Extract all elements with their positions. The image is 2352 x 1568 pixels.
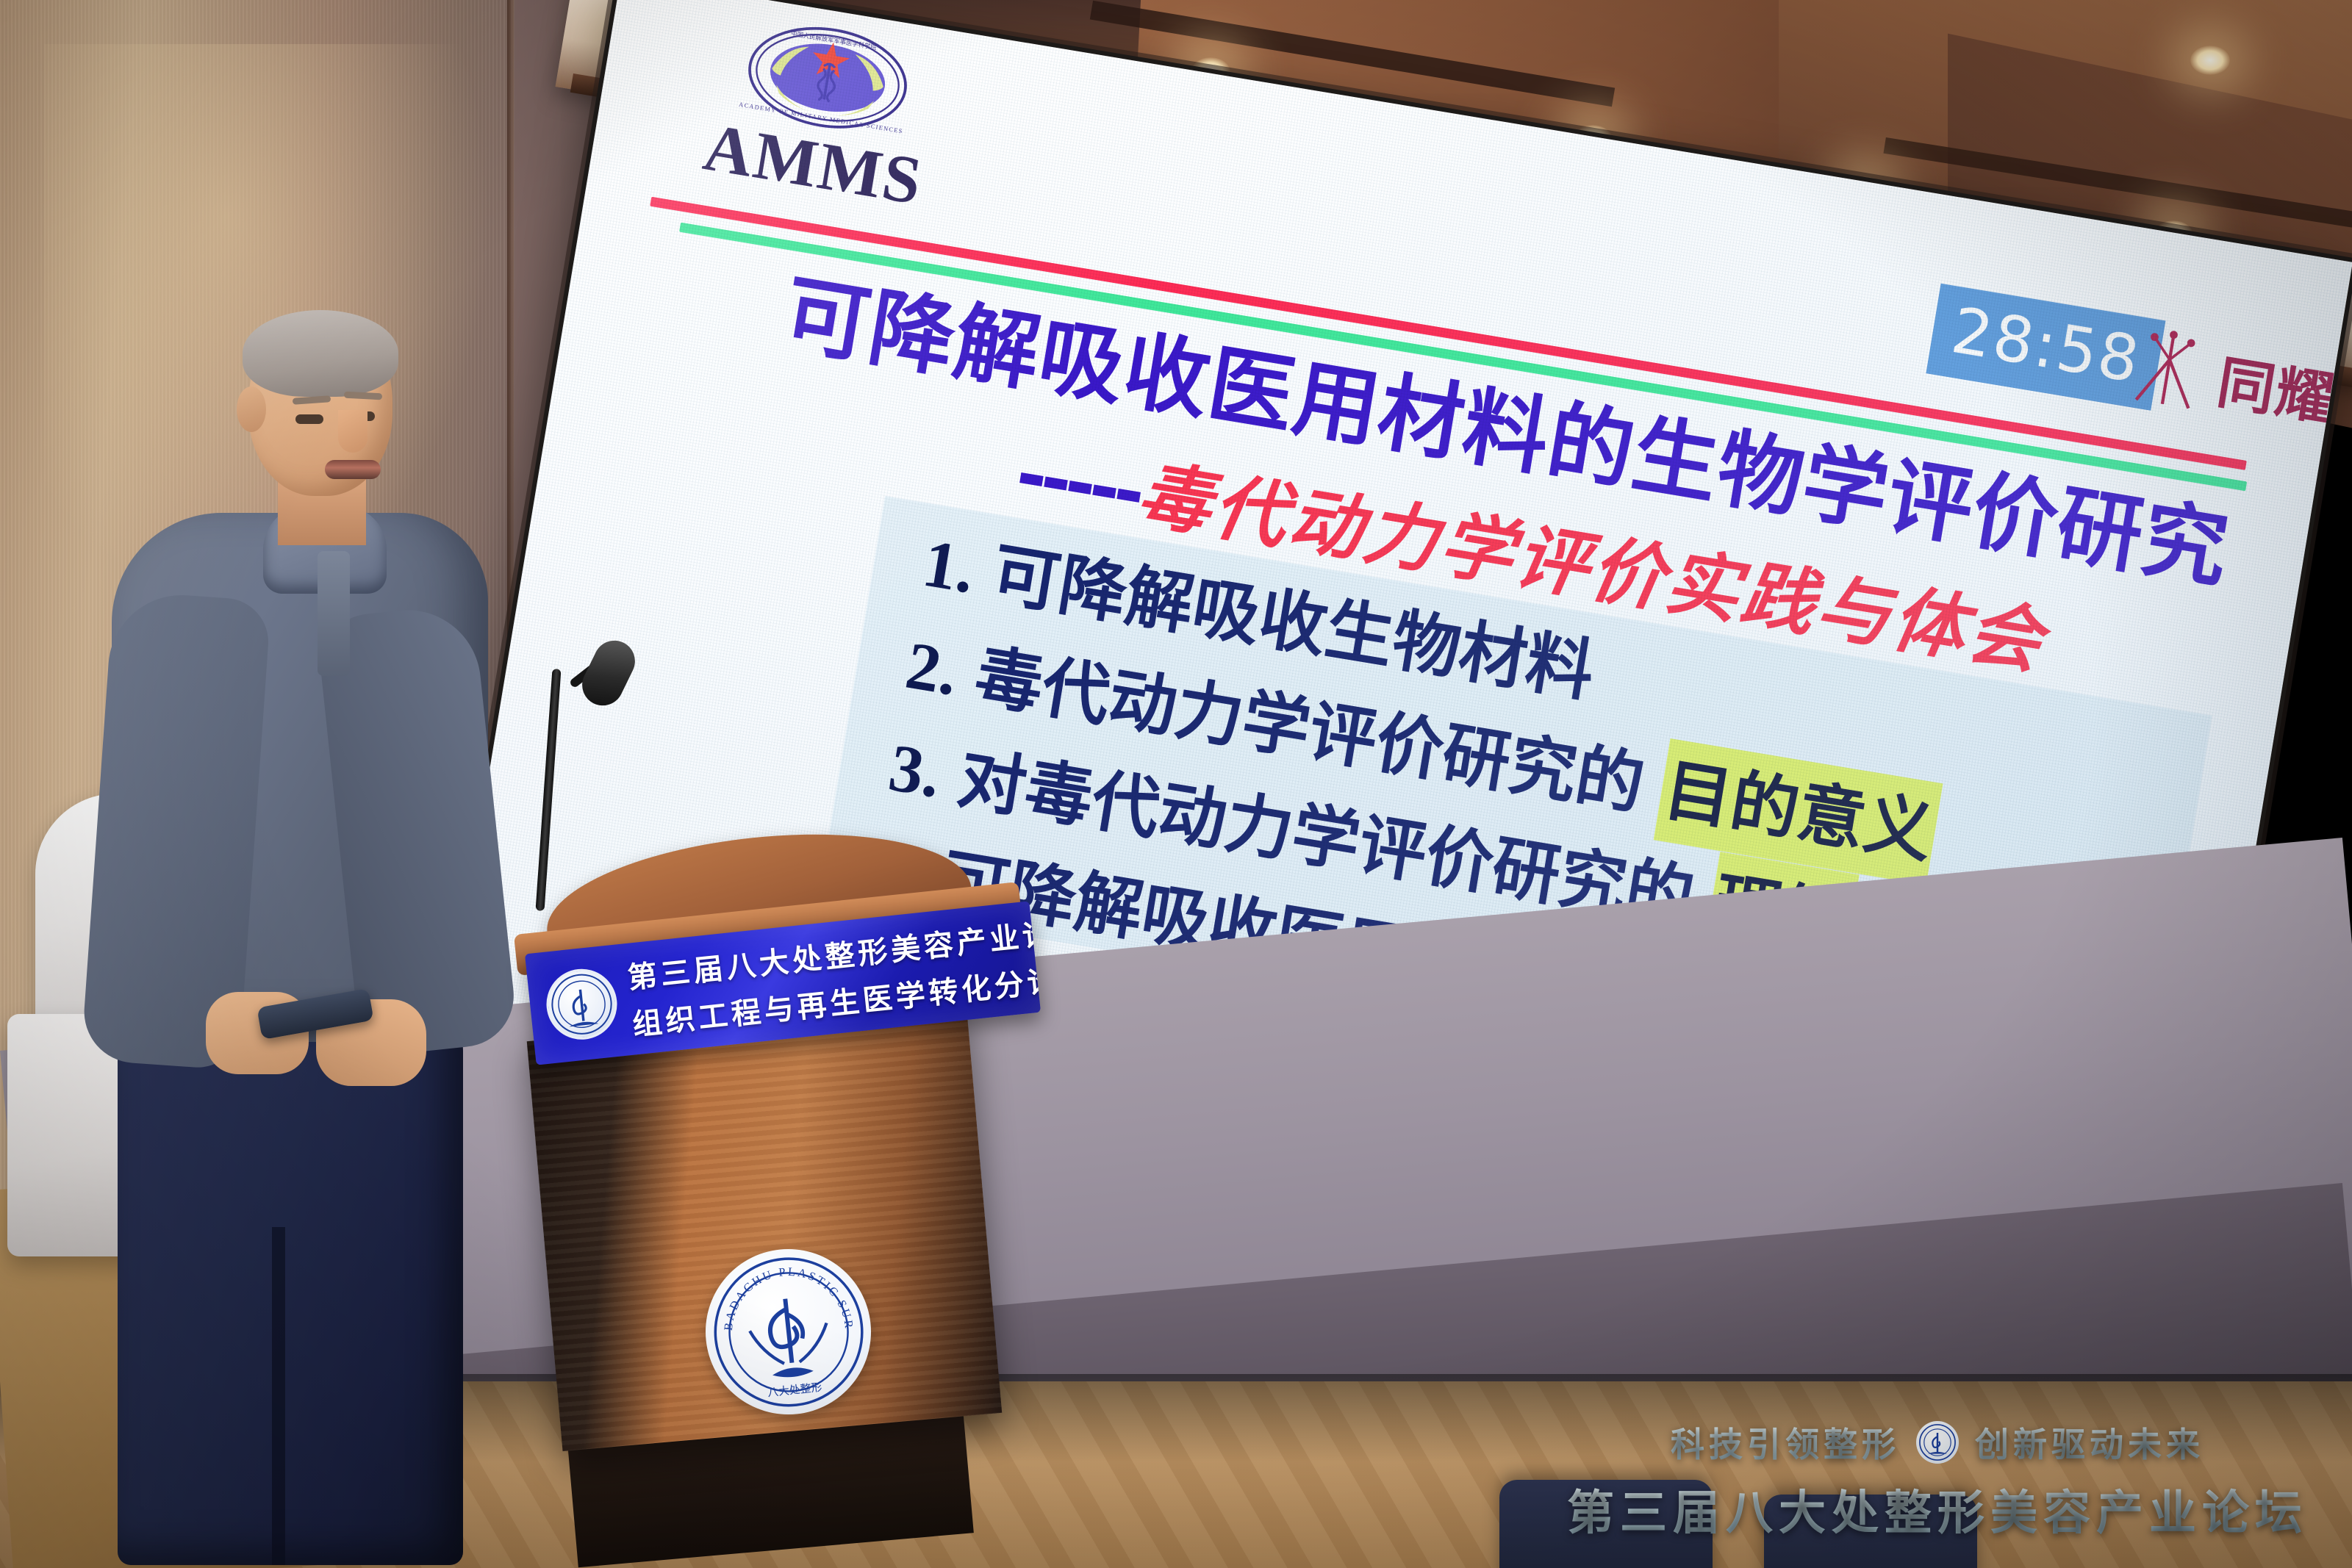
speaker-nose — [338, 410, 367, 453]
downlight-icon — [2190, 46, 2230, 75]
speaker — [96, 316, 551, 1565]
badachu-emblem-icon: BADACHU PLASTIC SURGERY 八大处整形 — [703, 1247, 873, 1417]
amms-logo: 中国人民解放军军事医学科学院 ACADEMY OF MILITARY MEDIC… — [678, 3, 967, 216]
watermark-slogan-row: 科技引领整形 创新驱动未来 — [1567, 1418, 2308, 1467]
badachu-small-icon — [547, 969, 617, 1039]
sponsor-brand: 同耀生 — [2122, 322, 2352, 447]
speaker-hair — [243, 310, 398, 397]
sponsor-name: 同耀生 — [2212, 337, 2352, 447]
speaker-placket — [318, 551, 350, 676]
svg-text:BADACHU PLASTIC SURGERY: BADACHU PLASTIC SURGERY — [703, 1247, 855, 1345]
speaker-legs — [118, 1007, 463, 1565]
speaker-ear — [237, 386, 266, 432]
watermark-event-name: 第三届八大处整形美容产业论坛 — [1567, 1475, 2308, 1543]
presentation-photo-scene: 中国人民解放军军事医学科学院 ACADEMY OF MILITARY MEDIC… — [0, 0, 2352, 1568]
podium-emblem: BADACHU PLASTIC SURGERY 八大处整形 — [698, 1241, 879, 1423]
watermark-badge-icon — [1916, 1421, 1959, 1464]
speaker-eye-left — [295, 414, 323, 424]
speaker-leg-seam — [272, 1227, 285, 1565]
watermark-slogan-right: 创新驱动未来 — [1975, 1418, 2204, 1467]
speaker-mouth — [325, 460, 381, 479]
amms-acronym: AMMS — [678, 112, 949, 216]
event-watermark: 科技引领整形 创新驱动未来 第三届八大处整形美容产业论坛 — [1567, 1418, 2308, 1543]
podium-sign-emblem-icon — [543, 965, 621, 1043]
badachu-watermark-icon — [1918, 1423, 1957, 1461]
tongyao-star-icon — [2122, 322, 2214, 416]
svg-text:八大处整形: 八大处整形 — [767, 1380, 822, 1399]
podium: BADACHU PLASTIC SURGERY 八大处整形 — [485, 838, 1073, 1568]
watermark-slogan-left: 科技引领整形 — [1671, 1418, 1900, 1467]
